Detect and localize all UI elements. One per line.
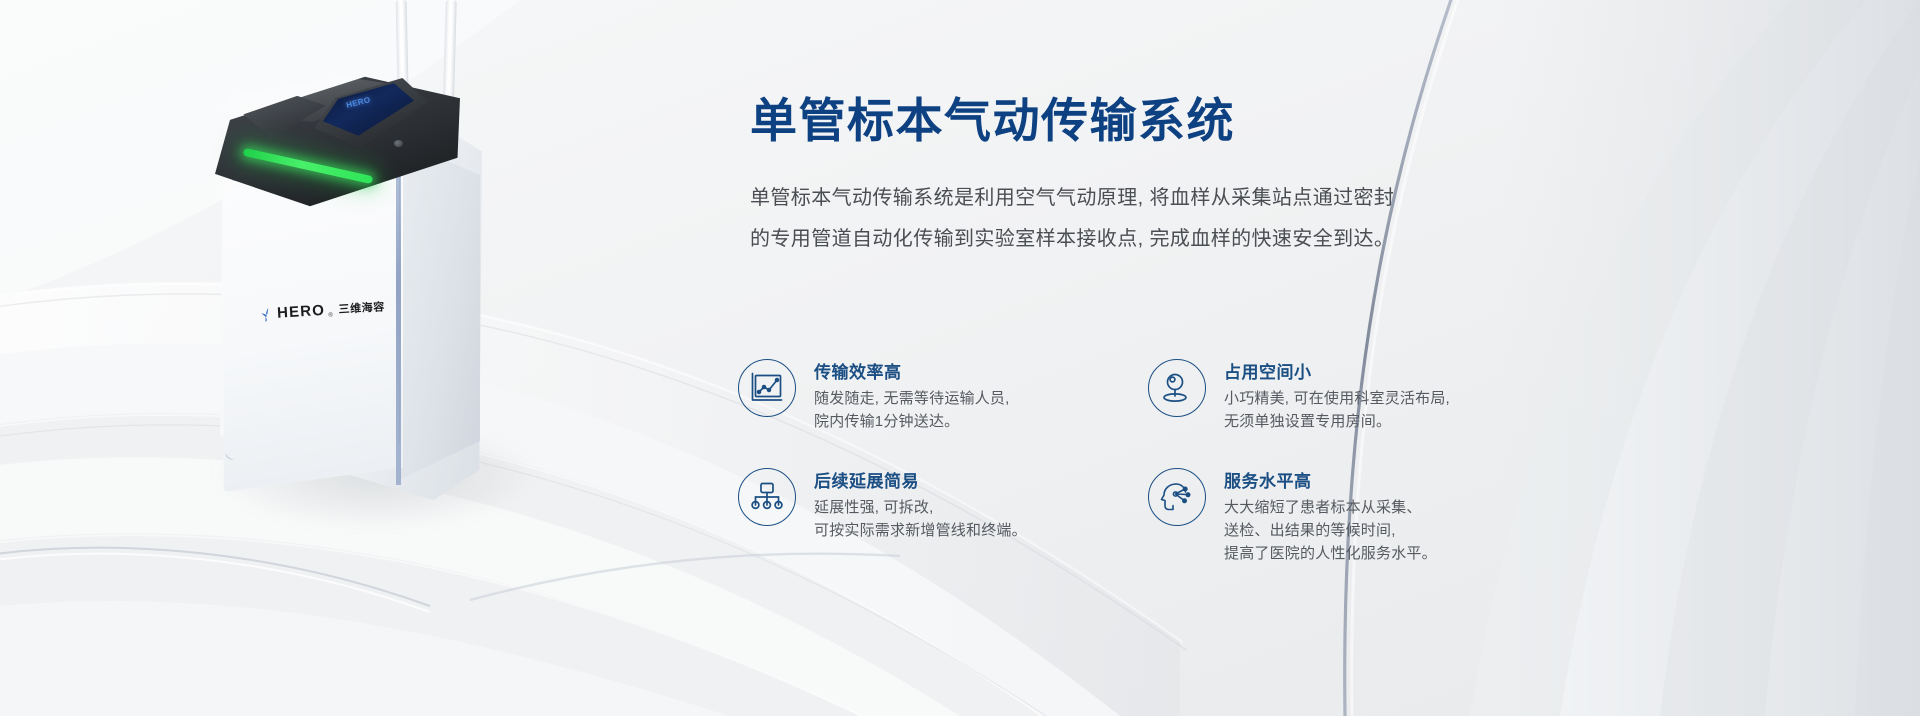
content-column: 单管标本气动传输系统 单管标本气动传输系统是利用空气气动原理, 将血样从采集站点… bbox=[750, 0, 1650, 716]
feature-item-service-level: 服务水平高 大大缩短了患者标本从采集、 送检、出结果的等候时间, 提高了医院的人… bbox=[1148, 442, 1558, 574]
feature-description: 延展性强, 可拆改, 可按实际需求新增管线和终端。 bbox=[814, 496, 1027, 543]
feature-item-easy-expansion: 后续延展简易 延展性强, 可拆改, 可按实际需求新增管线和终端。 bbox=[738, 442, 1148, 574]
device-side-panel bbox=[400, 140, 480, 490]
brand-name-cn: 三维海容 bbox=[338, 298, 385, 318]
feature-description: 大大缩短了患者标本从采集、 送检、出结果的等候时间, 提高了医院的人性化服务水平… bbox=[1224, 496, 1437, 566]
hero-swoosh-icon bbox=[260, 307, 275, 323]
feature-text: 传输效率高 随发随走, 无需等待运输人员, 院内传输1分钟送达。 bbox=[814, 357, 1010, 434]
registered-mark: ® bbox=[328, 312, 333, 318]
feature-title: 占用空间小 bbox=[1224, 358, 1450, 383]
line-chart-icon bbox=[738, 359, 796, 417]
feature-item-small-footprint: 占用空间小 小巧精美, 可在使用科室灵活布局, 无须单独设置专用房间。 bbox=[1148, 345, 1558, 442]
product-banner: HERO HERO ® 三维海容 单管标本气动传输系统 单管标本气动传输系统是利… bbox=[0, 0, 1920, 716]
brand-name: HERO bbox=[277, 302, 326, 322]
feature-grid: 传输效率高 随发随走, 无需等待运输人员, 院内传输1分钟送达。 占用空间小 bbox=[738, 345, 1618, 573]
location-pin-icon bbox=[1148, 359, 1206, 417]
device-knob bbox=[394, 140, 403, 147]
feature-title: 后续延展简易 bbox=[814, 467, 1027, 492]
network-hierarchy-icon bbox=[738, 468, 796, 526]
feature-text: 后续延展简易 延展性强, 可拆改, 可按实际需求新增管线和终端。 bbox=[814, 466, 1027, 543]
feature-title: 传输效率高 bbox=[814, 358, 1010, 383]
feature-description: 随发随走, 无需等待运输人员, 院内传输1分钟送达。 bbox=[814, 387, 1010, 434]
feature-description: 小巧精美, 可在使用科室灵活布局, 无须单独设置专用房间。 bbox=[1224, 387, 1450, 434]
feature-title: 服务水平高 bbox=[1224, 467, 1437, 492]
product-image: HERO HERO ® 三维海容 bbox=[150, 0, 570, 600]
page-title: 单管标本气动传输系统 bbox=[750, 95, 1235, 147]
intro-paragraph: 单管标本气动传输系统是利用空气气动原理, 将血样从采集站点通过密封的专用管道自动… bbox=[750, 178, 1405, 260]
feature-item-transfer-efficiency: 传输效率高 随发随走, 无需等待运输人员, 院内传输1分钟送达。 bbox=[738, 345, 1148, 442]
ai-head-icon bbox=[1148, 468, 1206, 526]
feature-text: 服务水平高 大大缩短了患者标本从采集、 送检、出结果的等候时间, 提高了医院的人… bbox=[1224, 466, 1437, 566]
feature-text: 占用空间小 小巧精美, 可在使用科室灵活布局, 无须单独设置专用房间。 bbox=[1224, 357, 1450, 434]
